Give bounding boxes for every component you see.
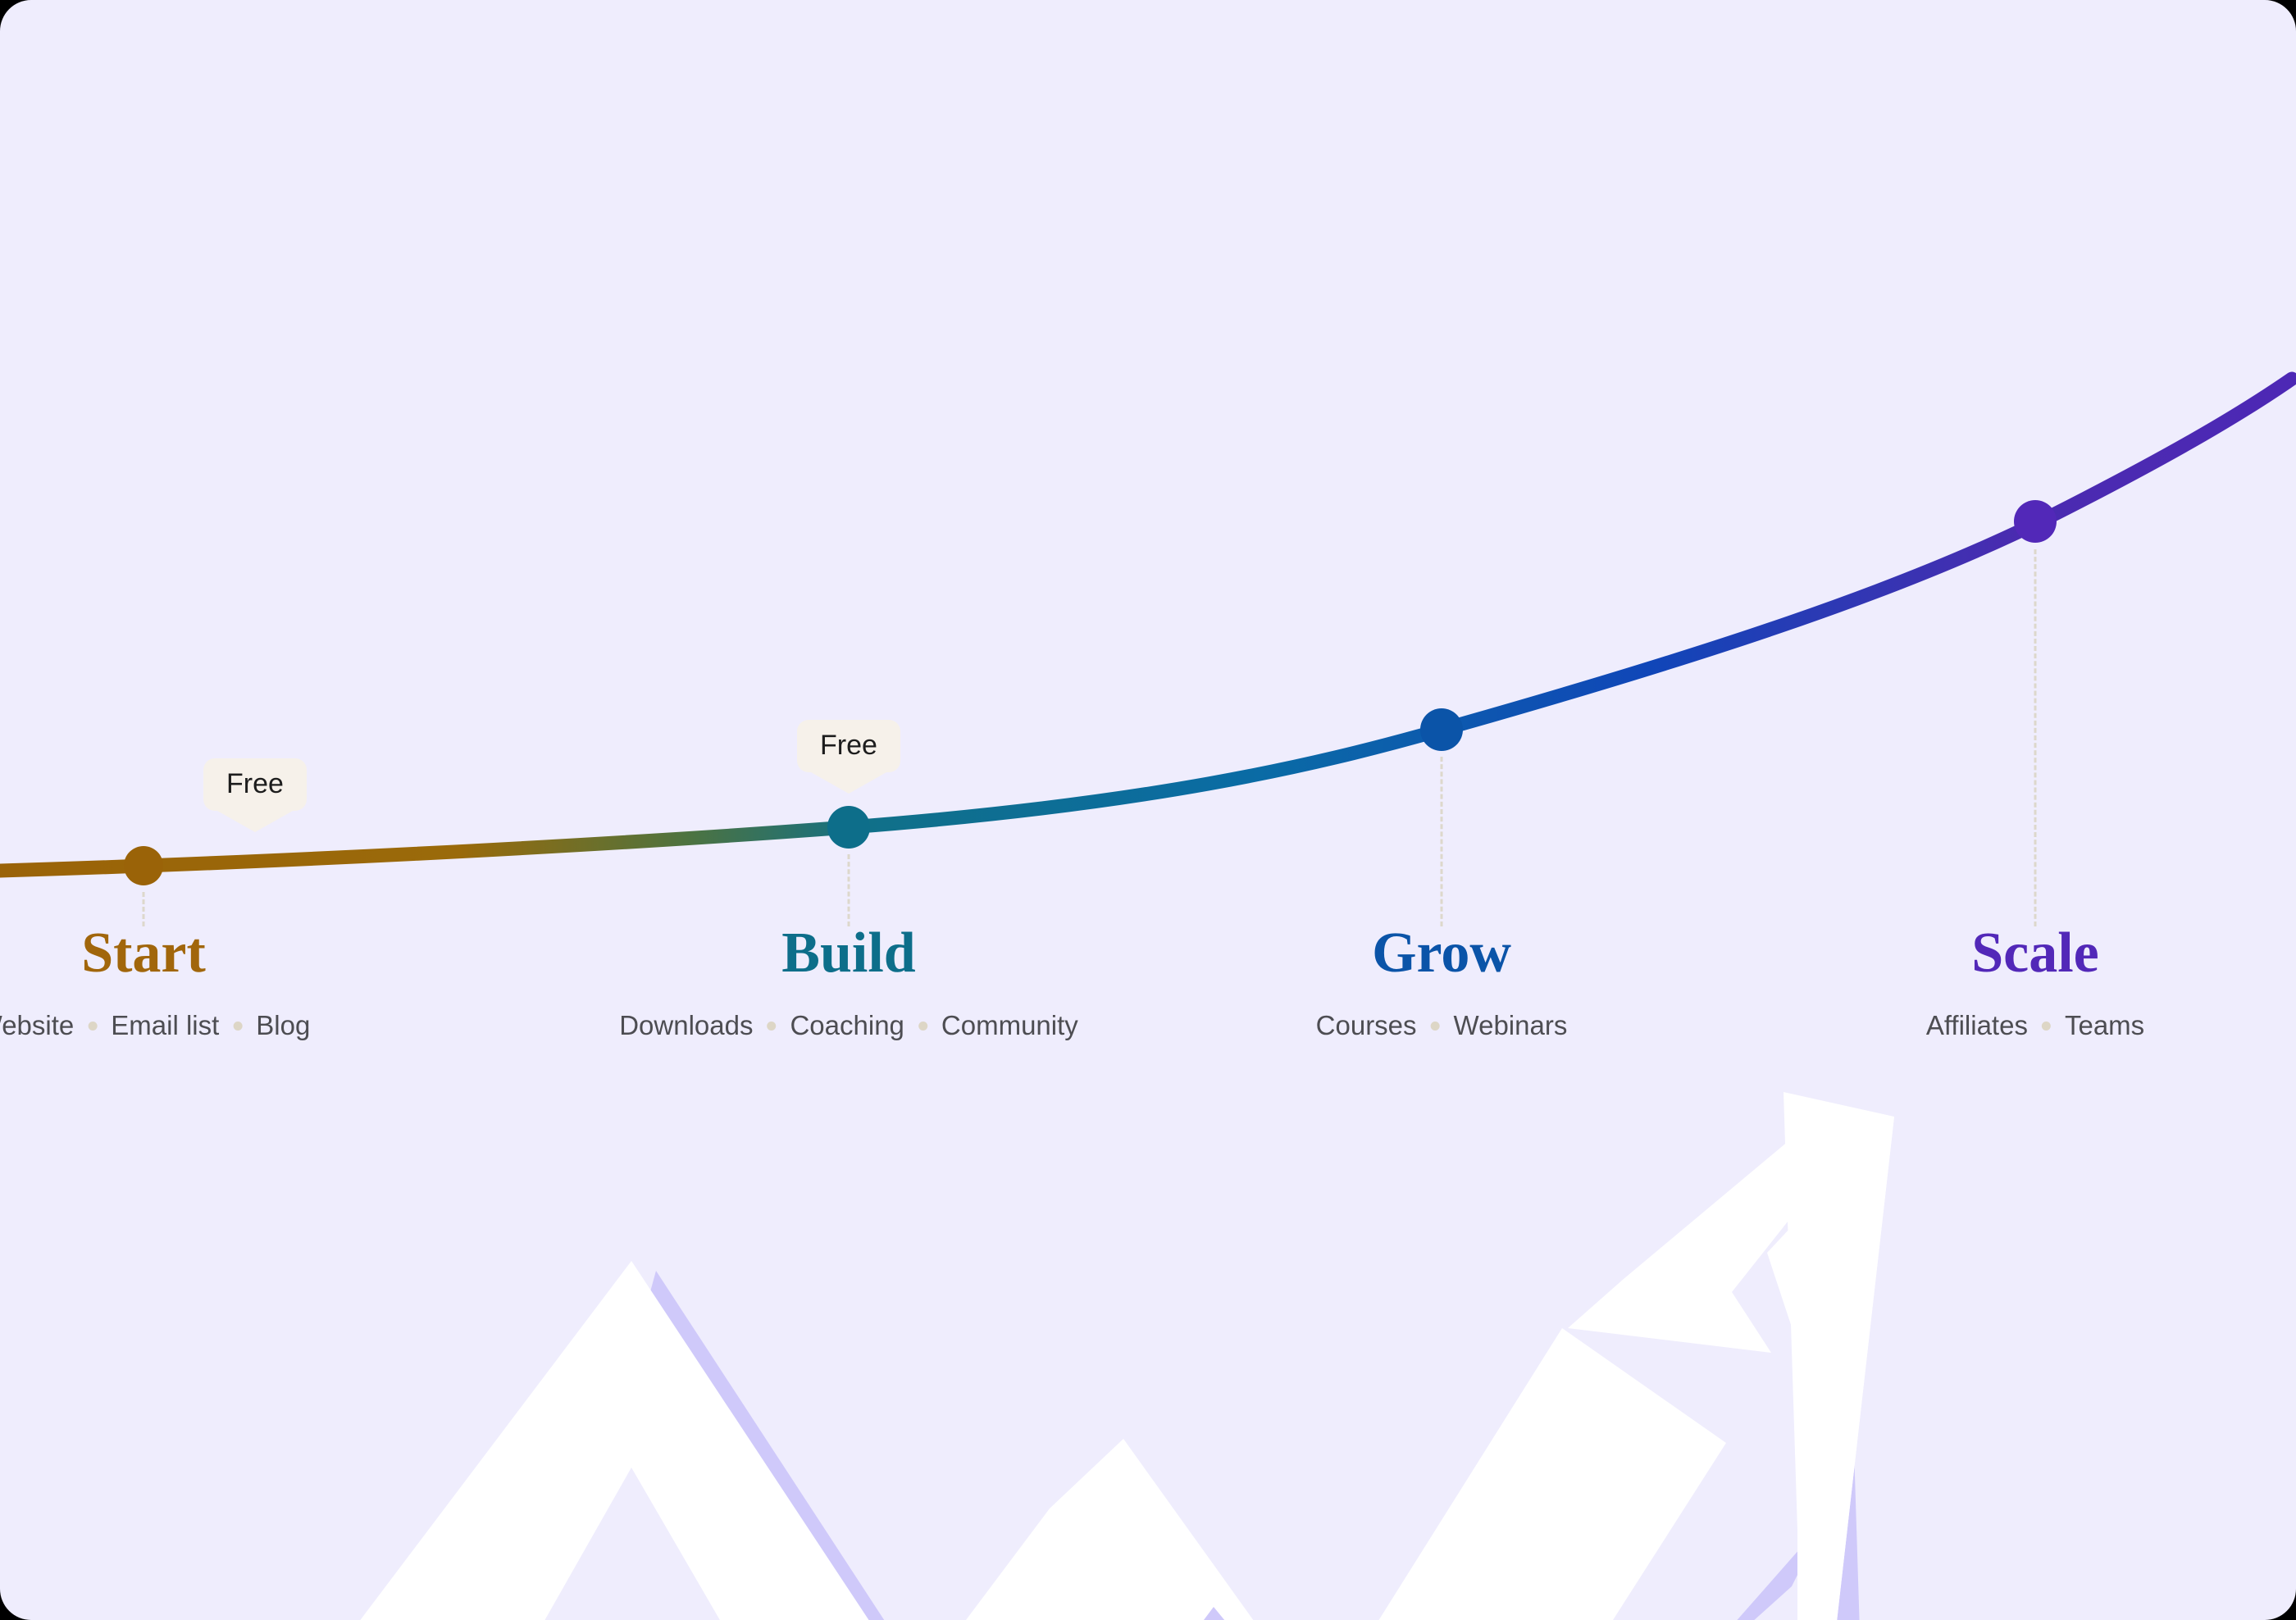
bullet-separator-icon bbox=[918, 1022, 927, 1031]
stage-title-build: Build bbox=[781, 925, 915, 982]
connector-grow bbox=[1441, 757, 1443, 926]
stage-item: Website bbox=[0, 1010, 74, 1041]
stage-items-scale: Affiliates Teams bbox=[1926, 1010, 2144, 1041]
growth-curve bbox=[0, 0, 2296, 1620]
badge-start: Free bbox=[203, 758, 307, 811]
connector-build bbox=[848, 854, 850, 926]
bullet-separator-icon bbox=[233, 1022, 242, 1031]
node-grow[interactable] bbox=[1420, 708, 1463, 751]
stage-items-grow: Courses Webinars bbox=[1316, 1010, 1568, 1041]
bullet-separator-icon bbox=[767, 1022, 776, 1031]
bullet-separator-icon bbox=[88, 1022, 97, 1031]
bullet-separator-icon bbox=[1431, 1022, 1440, 1031]
badge-build: Free bbox=[797, 720, 900, 772]
stage-item: Blog bbox=[256, 1010, 310, 1041]
stage-title-start: Start bbox=[81, 925, 206, 982]
stage-item: Teams bbox=[2065, 1010, 2144, 1041]
stage-item: Webinars bbox=[1454, 1010, 1568, 1041]
node-build[interactable] bbox=[827, 806, 870, 849]
stage-item: Affiliates bbox=[1926, 1010, 2028, 1041]
stage-item: Community bbox=[941, 1010, 1078, 1041]
stage-items-build: Downloads Coaching Community bbox=[619, 1010, 1078, 1041]
stage-items-start: Website Email list Blog bbox=[0, 1010, 310, 1041]
connector-scale bbox=[2034, 549, 2037, 926]
stage-item: Coaching bbox=[790, 1010, 904, 1041]
stage-item: Courses bbox=[1316, 1010, 1417, 1041]
node-scale[interactable] bbox=[2014, 500, 2057, 543]
stage-title-scale: Scale bbox=[1971, 925, 2099, 982]
node-start[interactable] bbox=[124, 846, 163, 885]
stage-title-grow: Grow bbox=[1372, 925, 1511, 982]
growth-roadmap-canvas: Free Start Website Email list Blog Free … bbox=[0, 0, 2296, 1620]
stage-item: Downloads bbox=[619, 1010, 753, 1041]
bullet-separator-icon bbox=[2042, 1022, 2051, 1031]
stage-item: Email list bbox=[111, 1010, 219, 1041]
